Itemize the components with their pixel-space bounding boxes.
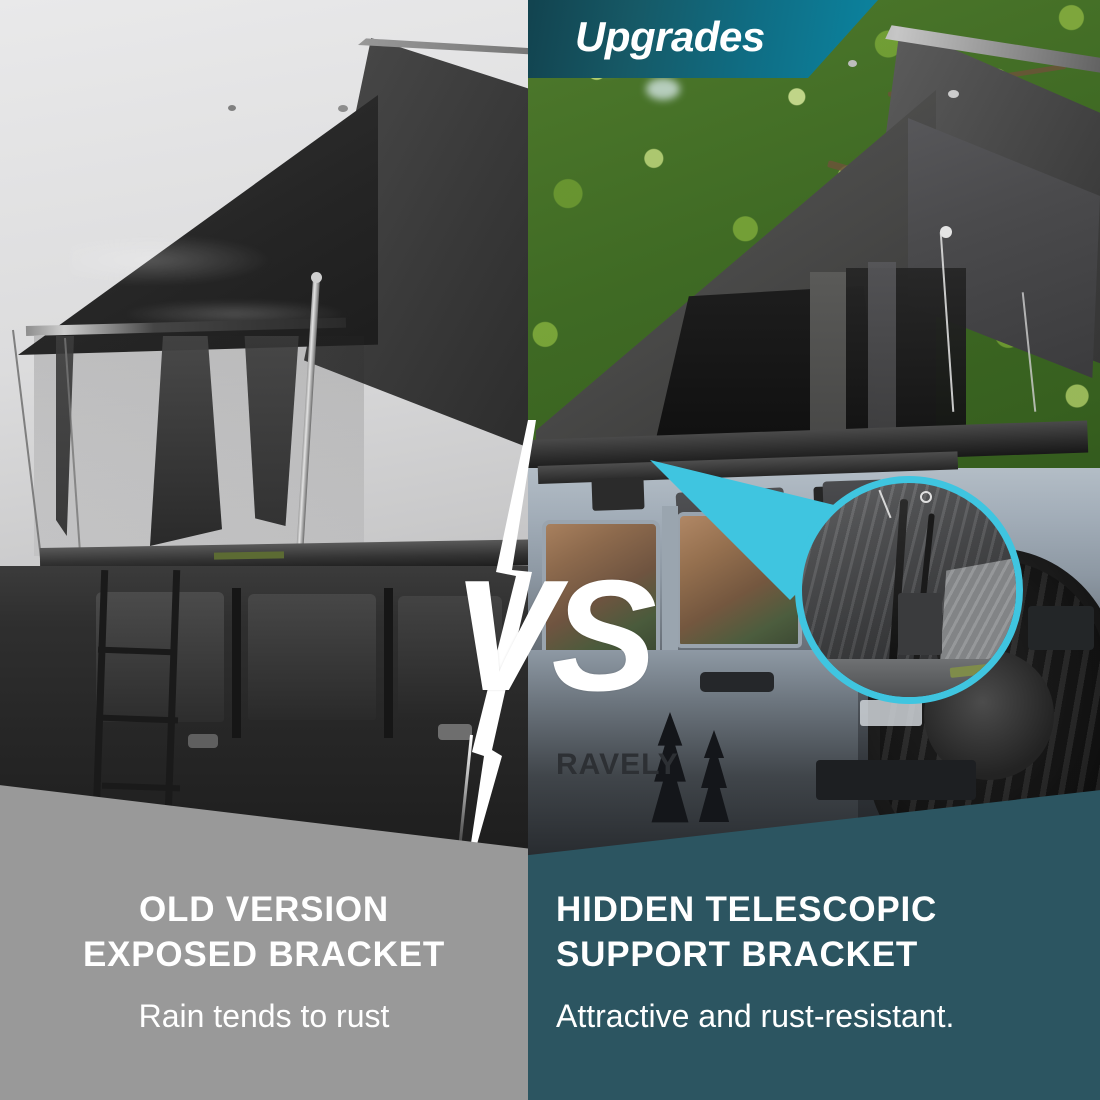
- old-version-title-line2: EXPOSED BRACKET: [0, 932, 528, 978]
- guy-wire-anchor-icon: [940, 226, 952, 238]
- window-frame: [384, 588, 393, 738]
- interior-seat-pad: [940, 553, 1023, 663]
- vehicle-window: [248, 594, 376, 720]
- wire-hook-icon: [920, 491, 932, 503]
- new-version-title-line2: SUPPORT BRACKET: [556, 932, 1086, 978]
- tent-ceiling-wire: [878, 490, 891, 519]
- vehicle-window: [96, 592, 224, 722]
- vehicle-decal-text: RAVELY: [556, 748, 679, 782]
- old-version-subtitle: Rain tends to rust: [0, 994, 528, 1038]
- upgrades-banner-label: Upgrades: [575, 8, 855, 66]
- door-handle: [700, 672, 774, 692]
- comparison-graphic: RAVELY Upgrades VS: [0, 0, 1100, 1100]
- hinge-bolt-icon: [338, 105, 348, 112]
- zoom-callout-circle: [795, 476, 1023, 704]
- old-version-title-line1: OLD VERSION: [0, 888, 528, 932]
- rack-mount-bracket: [591, 477, 644, 511]
- awning-sheen: [70, 235, 270, 285]
- hinge-bolt-icon: [948, 90, 959, 98]
- vs-label: VS: [452, 560, 652, 720]
- interior-pocket: [898, 593, 942, 655]
- hinge-bolt-icon: [228, 105, 236, 111]
- door-handle: [188, 734, 218, 748]
- window-frame: [232, 588, 241, 738]
- new-version-title-line1: HIDDEN TELESCOPIC: [556, 888, 1086, 932]
- old-version-caption: OLD VERSION EXPOSED BRACKET Rain tends t…: [0, 888, 528, 1038]
- new-version-subtitle: Attractive and rust-resistant.: [556, 994, 1086, 1038]
- roof-rack-accent: [214, 551, 284, 559]
- tire-carrier-arm: [1028, 606, 1094, 650]
- sky-patch: [646, 78, 680, 100]
- bumper: [816, 760, 976, 800]
- pole-tip-icon: [311, 272, 322, 283]
- new-version-caption: HIDDEN TELESCOPIC SUPPORT BRACKET Attrac…: [556, 888, 1086, 1038]
